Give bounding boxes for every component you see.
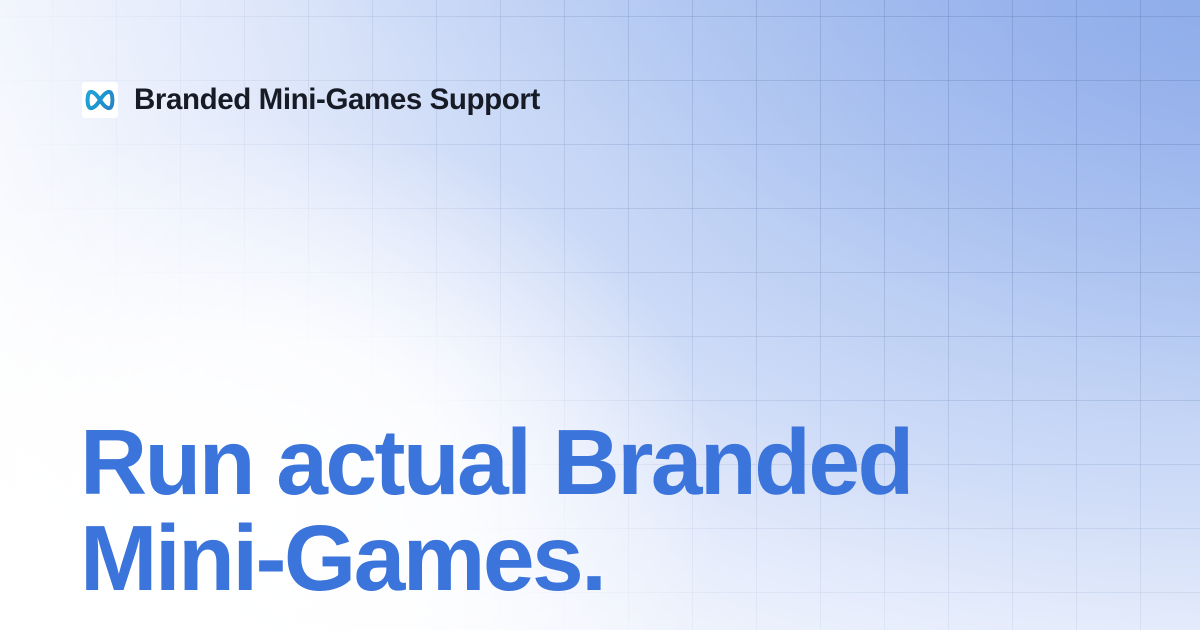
brand-row: Branded Mini-Games Support — [82, 82, 540, 118]
og-banner-card: Branded Mini-Games Support Run actual Br… — [0, 0, 1200, 630]
brand-title: Branded Mini-Games Support — [134, 85, 540, 115]
hero-headline: Run actual Branded Mini-Games. — [80, 414, 1080, 606]
infinity-loop-icon — [82, 82, 118, 118]
